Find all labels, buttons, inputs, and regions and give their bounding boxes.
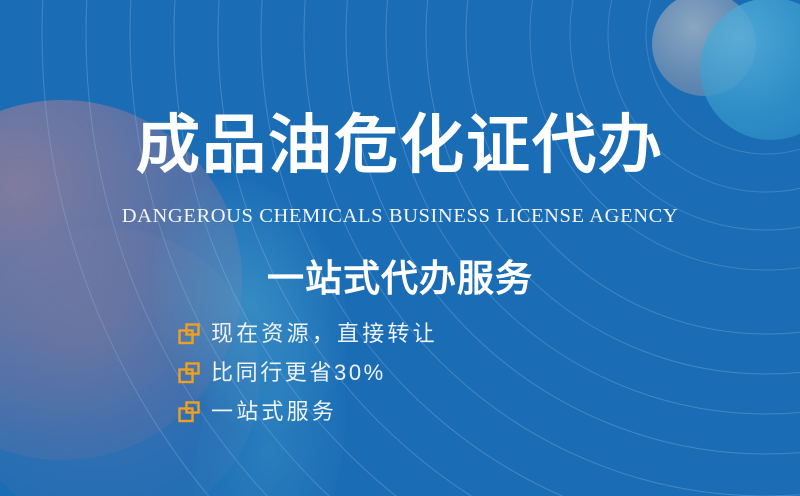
overlapping-squares-icon — [178, 323, 200, 345]
list-item-label: 一站式服务 — [211, 401, 337, 423]
list-item: 现在资源，直接转让 — [178, 318, 438, 350]
banner-content: 成品油危化证代办 DANGEROUS CHEMICALS BUSINESS LI… — [0, 0, 800, 496]
feature-list: 现在资源，直接转让 比同行更省30% 一站式 — [178, 318, 438, 428]
chinese-subtitle: 一站式代办服务 — [0, 248, 800, 302]
english-subtitle: DANGEROUS CHEMICALS BUSINESS LICENSE AGE… — [0, 205, 800, 228]
page-title: 成品油危化证代办 — [0, 112, 800, 180]
overlapping-squares-icon — [178, 401, 200, 423]
promo-banner: 成品油危化证代办 DANGEROUS CHEMICALS BUSINESS LI… — [0, 0, 800, 496]
list-item-label: 比同行更省30% — [211, 362, 386, 384]
list-item-label: 现在资源，直接转让 — [211, 323, 438, 345]
list-item: 比同行更省30% — [178, 357, 438, 389]
list-item: 一站式服务 — [178, 396, 438, 428]
overlapping-squares-icon — [178, 362, 200, 384]
